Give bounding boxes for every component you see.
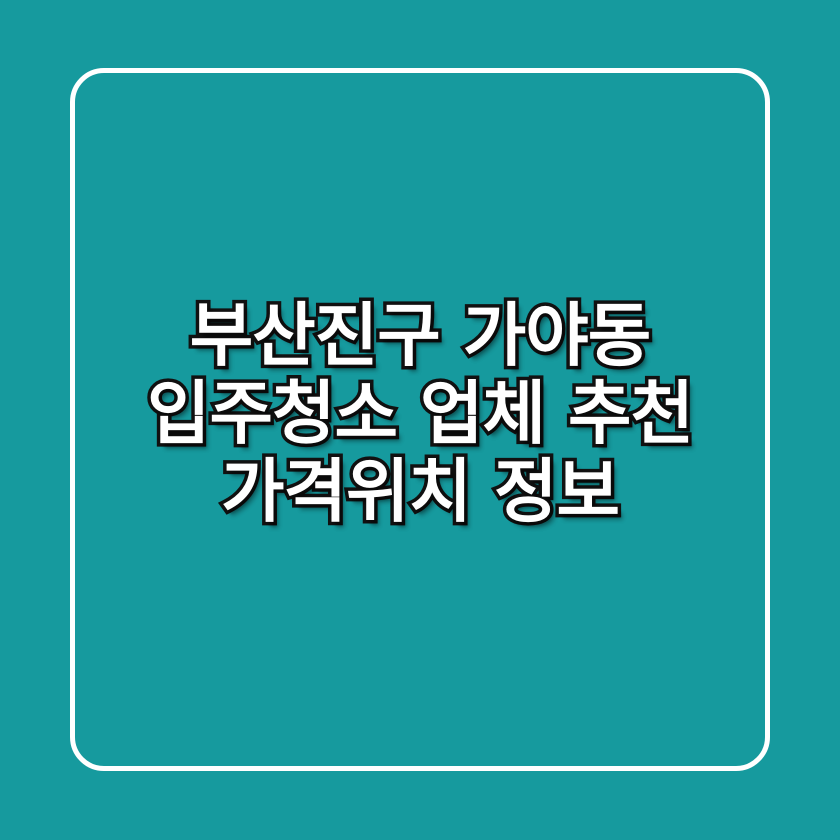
headline-line-2: 입주청소 업체 추천 [80,375,760,453]
headline-line-1: 부산진구 가야동 [80,297,760,375]
headline-block: 부산진구 가야동 입주청소 업체 추천 가격위치 정보 [70,297,770,531]
thumbnail-card: 부산진구 가야동 입주청소 업체 추천 가격위치 정보 [0,0,840,840]
headline-line-3: 가격위치 정보 [80,453,760,531]
